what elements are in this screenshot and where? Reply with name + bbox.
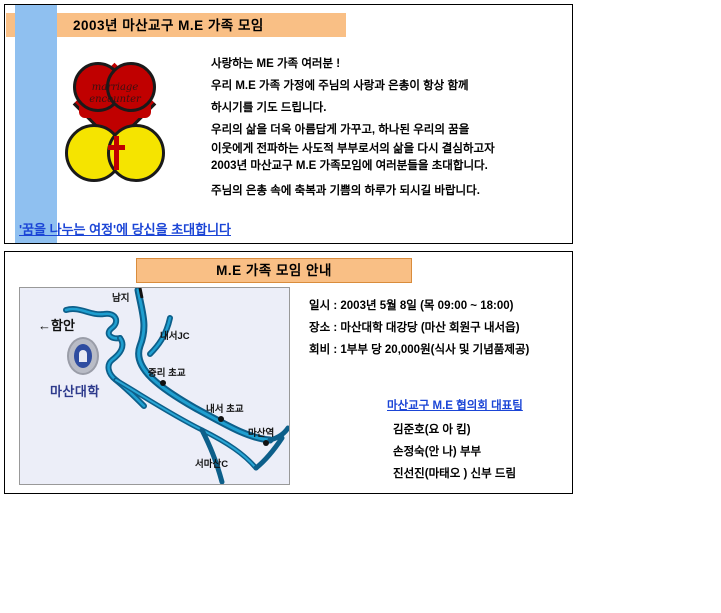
map-dot-naeseo [218,416,224,422]
invitation-body-text: 사랑하는 ME 가족 여러분 ! 우리 M.E 가족 가정에 주님의 사랑과 은… [211,53,561,202]
map-label-masan-station: 마산역 [248,425,274,439]
heart-right-lobe [106,62,156,112]
invitation-line-1: 사랑하는 ME 가족 여러분 ! [211,53,561,75]
map-dot-masan-station [263,440,269,446]
details-panel: M.E 가족 모임 안내 ←함안 [4,251,573,494]
organizer-name-2: 손정숙(안 나) 부부 [393,441,516,463]
direction-arrow-haman: ←함안 [38,320,75,332]
university-marker-icon [67,337,99,375]
organizer-team-link[interactable]: 마산교구 M.E 협의회 대표팀 [387,397,523,413]
invitation-title: 2003년 마산교구 M.E 가족 모임 [73,16,343,36]
marriage-encounter-logo: marriage encounter [57,60,175,188]
organizer-name-1: 김준호(요 아 킴) [393,419,516,441]
cross-icon-vertical [114,136,119,170]
invitation-line-7: 주님의 은총 속에 축복과 기쁨의 하루가 되시길 바랍니다. [211,180,561,202]
event-info-datetime: 일시 : 2003년 5월 8일 (목 09:00 ~ 18:00) [309,295,567,317]
organizer-name-3: 진선진(마태오 ) 신부 드림 [393,463,516,485]
decorative-blue-stripe [15,5,57,243]
organizer-names-list: 김준호(요 아 킴) 손정숙(안 나) 부부 진선진(마태오 ) 신부 드림 [393,419,516,485]
university-marker-inner [74,344,92,368]
map-label-seomasan-ic: 서마산C [195,456,228,470]
invitation-line-6: 2003년 마산교구 M.E 가족모임에 여러분들을 초대합니다. [211,158,561,175]
invitation-line-3: 하시기를 기도 드립니다. [211,97,561,119]
event-info-location: 장소 : 마산대학 대강당 (마산 회원구 내서읍) [309,317,567,339]
map-dot-jungri [160,380,166,386]
map-label-naeseo-school: 내서 초교 [206,401,244,415]
map-label-jungri-school: 중리 초교 [148,365,186,379]
invitation-line-4: 우리의 삶을 더욱 아름답게 가꾸고, 하나된 우리의 꿈을 [211,119,561,141]
event-info-fee: 회비 : 1부부 당 20,000원(식사 및 기념품제공) [309,339,567,361]
location-map: ←함안 남지 내서JC 중리 초교 내서 초교 마산역 서마산C 마산대학 [19,287,290,485]
invitation-line-5: 이웃에게 전파하는 사도적 부부로서의 삶을 다시 결심하고자 [211,141,561,158]
cross-icon-horizontal [108,145,125,150]
invitation-line-2: 우리 M.E 가족 가정에 주님의 사랑과 은총이 항상 함께 [211,75,561,97]
invitation-panel: 2003년 마산교구 M.E 가족 모임 marriage encounter … [4,4,573,244]
map-label-naeseo-jc: 내서JC [160,328,190,342]
map-label-namji: 남지 [112,290,129,304]
invitation-journey-link[interactable]: '꿈을 나누는 여정'에 당신을 초대합니다 [19,219,231,238]
map-label-masan-university: 마산대학 [50,381,100,400]
event-info-list: 일시 : 2003년 5월 8일 (목 09:00 ~ 18:00) 장소 : … [309,295,567,361]
details-title-badge: M.E 가족 모임 안내 [136,258,412,283]
